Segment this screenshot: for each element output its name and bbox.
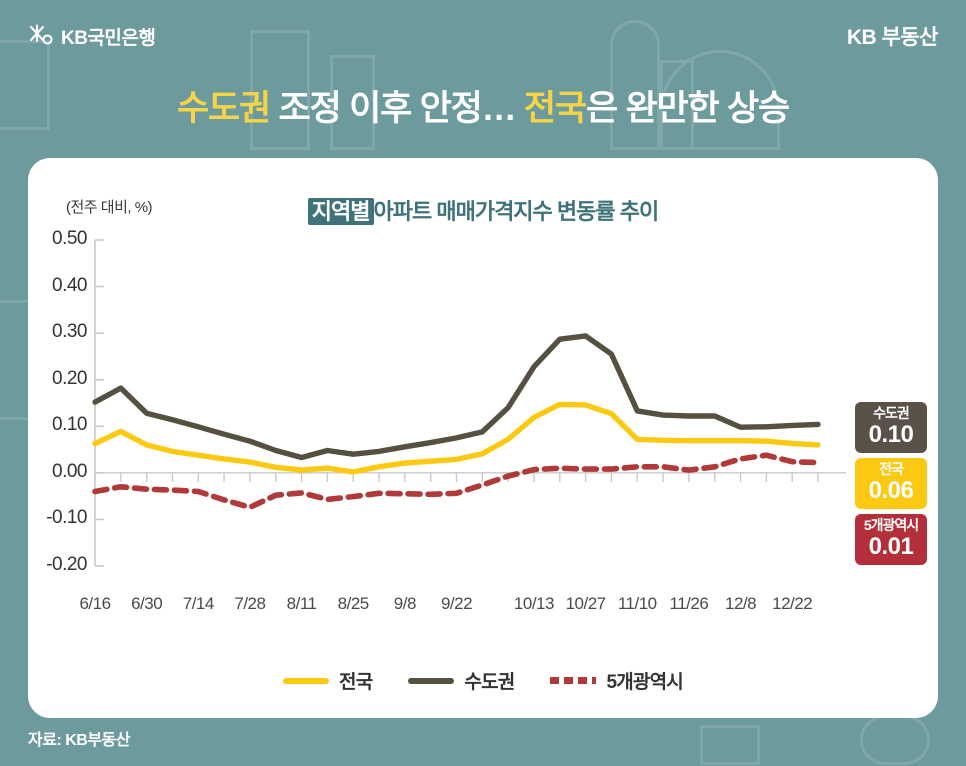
legend-item[interactable]: 수도권	[408, 667, 514, 694]
value-badge: 전국0.06	[855, 458, 927, 509]
page-title-text-2: 은 완만한 상승	[586, 89, 789, 128]
kb-bank-logo: KB국민은행	[28, 23, 155, 50]
page-title-text-1: 조정 이후 안정…	[270, 89, 524, 128]
y-axis-tick-label: -0.10	[27, 507, 87, 529]
page-title-accent-2: 전국	[524, 89, 586, 128]
legend-item[interactable]: 5개광역시	[550, 667, 683, 694]
legend-label: 5개광역시	[606, 667, 683, 694]
legend-swatch	[408, 678, 454, 684]
plot-area: 0.500.400.300.200.100.00-0.10-0.20 6/166…	[28, 158, 938, 718]
page-title-accent-1: 수도권	[177, 89, 270, 128]
page-title: 수도권 조정 이후 안정… 전국은 완만한 상승	[0, 80, 966, 131]
legend-label: 전국	[339, 667, 372, 694]
value-badge-value: 0.01	[855, 534, 927, 560]
kb-bank-logo-text: KB국민은행	[61, 23, 155, 50]
value-badge-value: 0.10	[855, 422, 927, 448]
chart-legend: 전국수도권5개광역시	[28, 667, 938, 694]
kb-realestate-brand: KB 부동산	[847, 21, 938, 51]
legend-swatch	[283, 678, 329, 684]
line-chart-svg	[28, 158, 938, 718]
x-axis-tick-label: 12/22	[762, 594, 822, 614]
source-note: 자료: KB부동산	[28, 726, 130, 750]
y-axis-tick-label: 0.20	[27, 368, 87, 390]
page-header: KB국민은행 KB 부동산	[0, 0, 966, 72]
chart-card: (전주 대비, %) 지역별아파트 매매가격지수 변동률 추이 0.500.40…	[28, 158, 938, 718]
legend-swatch	[550, 677, 596, 684]
legend-item[interactable]: 전국	[283, 667, 372, 694]
kb-star-icon	[28, 23, 54, 49]
y-axis-tick-label: -0.20	[27, 554, 87, 576]
x-axis-tick-label: 9/22	[427, 594, 487, 614]
y-axis-tick-label: 0.40	[27, 275, 87, 297]
value-badge-label: 5개광역시	[855, 517, 927, 534]
value-badge: 수도권0.10	[855, 402, 927, 453]
legend-label: 수도권	[464, 667, 514, 694]
value-badge: 5개광역시0.01	[855, 514, 927, 565]
y-axis-tick-label: 0.30	[27, 321, 87, 343]
y-axis-tick-label: 0.50	[27, 228, 87, 250]
y-axis-tick-label: 0.10	[27, 414, 87, 436]
value-badge-label: 전국	[855, 461, 927, 478]
value-badge-value: 0.06	[855, 478, 927, 504]
value-badge-label: 수도권	[855, 405, 927, 422]
y-axis-tick-label: 0.00	[27, 461, 87, 483]
